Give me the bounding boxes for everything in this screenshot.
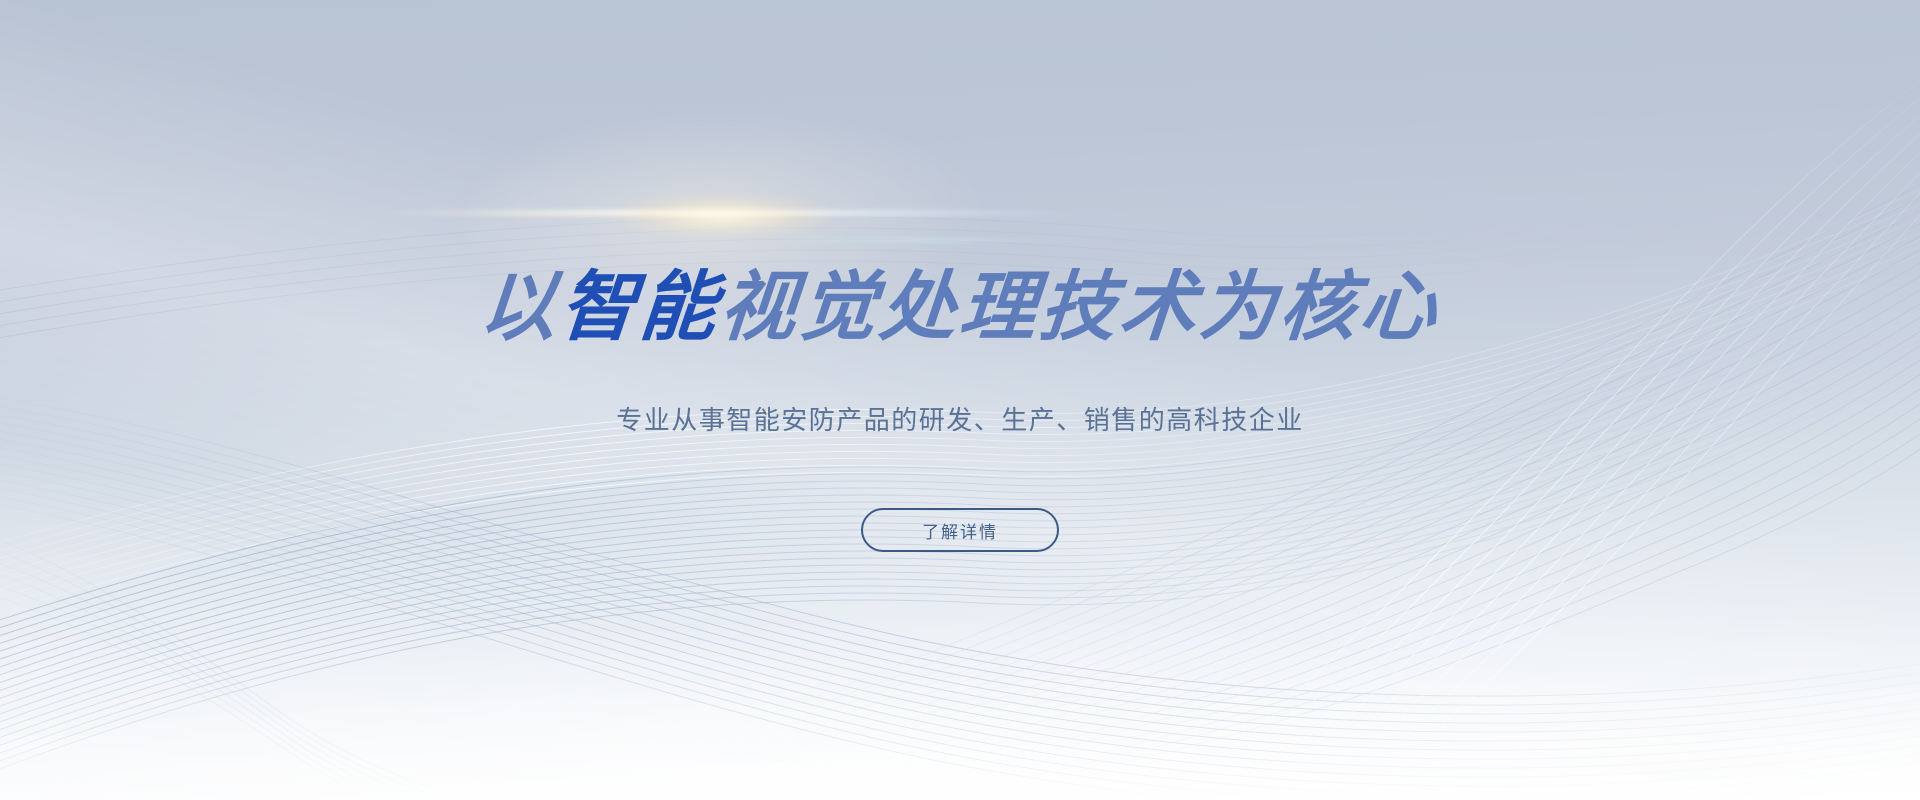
headline-segment-1: 以	[476, 265, 563, 350]
learn-more-button[interactable]: 了解详情	[861, 508, 1059, 552]
hero-headline: 以智能视觉处理技术为核心	[0, 266, 1920, 350]
hero-cta-wrap: 了解详情	[0, 508, 1920, 552]
headline-segment-4: 处理技术为核心	[876, 265, 1443, 350]
headline-segment-2: 智能	[556, 265, 723, 350]
headline-segment-3: 视觉	[716, 265, 883, 350]
hero-banner: 以智能视觉处理技术为核心 专业从事智能安防产品的研发、生产、销售的高科技企业 了…	[0, 0, 1920, 800]
hero-content: 以智能视觉处理技术为核心 专业从事智能安防产品的研发、生产、销售的高科技企业 了…	[0, 0, 1920, 800]
hero-subtitle: 专业从事智能安防产品的研发、生产、销售的高科技企业	[0, 403, 1920, 437]
